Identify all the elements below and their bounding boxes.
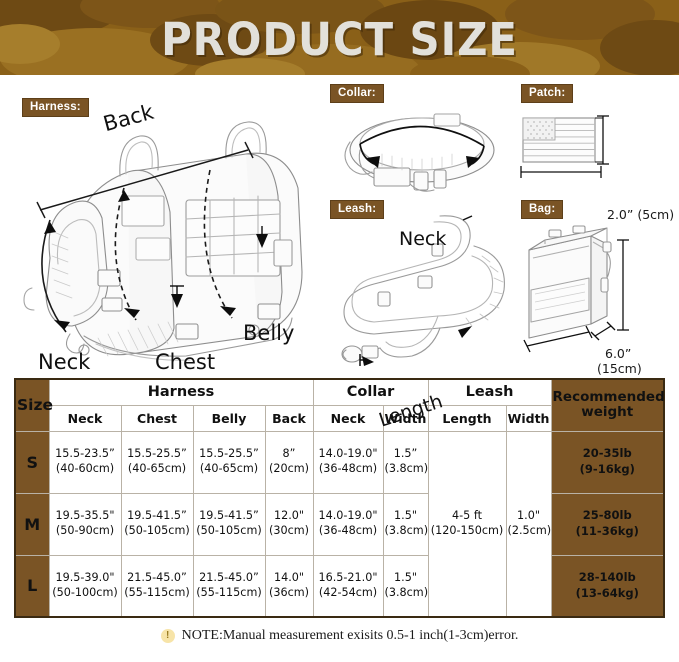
table-row: M 19.5-35.5" (50-90cm) 19.5-41.5” (50-10… [15, 493, 664, 555]
value-in: 19.5-41.5” [195, 509, 264, 524]
value-in: 1.5" [385, 509, 427, 524]
cell-leash-length: 4-5 ft (120-150cm) [428, 431, 506, 617]
cell-m-harness-neck: 19.5-35.5" (50-90cm) [49, 493, 121, 555]
value-cm: (40-65cm) [195, 462, 264, 477]
bag-height-label: 6.0” [605, 346, 631, 361]
table-group-header-row: Size Harness Collar Leash Recommended we… [15, 379, 664, 405]
value-in: 19.5-35.5" [51, 509, 120, 524]
value-cm: (40-65cm) [123, 462, 192, 477]
harness-neck-label: Neck [38, 350, 90, 374]
patch-diagram [515, 104, 675, 184]
header-group-leash: Leash [428, 379, 551, 405]
value-in: 21.5-45.0” [123, 571, 192, 586]
cell-m-harness-belly: 19.5-41.5” (50-105cm) [193, 493, 265, 555]
page-title: PRODUCT SIZE [24, 0, 655, 78]
harness-belly-label: Belly [243, 321, 294, 345]
value-in: 14.0" [267, 571, 312, 586]
harness-chest-label: Chest [155, 350, 215, 374]
value-in: 15.5-25.5” [123, 447, 192, 462]
cell-s-harness-back: 8” (20cm) [265, 431, 313, 493]
value-in: 21.5-45.0” [195, 571, 264, 586]
value-cm: (50-100cm) [51, 586, 120, 601]
value-in: 15.5-25.5” [195, 447, 264, 462]
cell-leash-width: 1.0" (2.5cm) [506, 431, 551, 617]
warning-icon: ! [161, 629, 175, 643]
patch-badge: Patch: [521, 84, 573, 103]
value-in: 1.5” [385, 447, 427, 462]
cell-m-collar-width: 1.5" (3.8cm) [383, 493, 428, 555]
subheader-harness-neck: Neck [49, 405, 121, 431]
collar-badge: Collar: [330, 84, 384, 103]
value-cm: (20cm) [267, 462, 312, 477]
value-in: 1.5" [385, 571, 427, 586]
value-cm: (50-105cm) [195, 524, 264, 539]
cell-s-harness-neck: 15.5-23.5” (40-60cm) [49, 431, 121, 493]
subheader-harness-belly: Belly [193, 405, 265, 431]
value-in: 1.0" [508, 509, 550, 524]
value-in: 16.5-21.0" [315, 571, 382, 586]
value-cm: (3.8cm) [385, 462, 427, 477]
bag-diagram [515, 218, 679, 368]
subheader-harness-chest: Chest [121, 405, 193, 431]
value-cm: (36cm) [267, 586, 312, 601]
table-row: S 15.5-23.5” (40-60cm) 15.5-25.5” (40-65… [15, 431, 664, 493]
row-size-l: L [15, 555, 49, 617]
page-header: PRODUCT SIZE [0, 0, 679, 78]
cell-s-collar-width: 1.5” (3.8cm) [383, 431, 428, 493]
value-cm: (3.8cm) [385, 586, 427, 601]
value-kg: (13-64kg) [553, 586, 663, 602]
value-cm: (50-105cm) [123, 524, 192, 539]
value-lb: 20-35lb [553, 446, 663, 462]
cell-m-collar-neck: 14.0-19.0" (36-48cm) [313, 493, 383, 555]
value-lb: 28-140lb [553, 570, 663, 586]
value-in: 15.5-23.5” [51, 447, 120, 462]
cell-l-harness-neck: 19.5-39.0" (50-100cm) [49, 555, 121, 617]
value-cm: (3.8cm) [385, 524, 427, 539]
note-bar: ! NOTE:Manual measurement exisits 0.5-1 … [0, 628, 679, 644]
cell-s-harness-belly: 15.5-25.5” (40-65cm) [193, 431, 265, 493]
cell-l-harness-chest: 21.5-45.0” (55-115cm) [121, 555, 193, 617]
value-in: 14.0-19.0" [315, 509, 382, 524]
subheader-leash-width: Width [506, 405, 551, 431]
bag-badge: Bag: [521, 200, 563, 219]
value-cm: (50-90cm) [51, 524, 120, 539]
note-text: NOTE:Manual measurement exisits 0.5-1 in… [182, 628, 519, 644]
cell-l-weight: 28-140lb (13-64kg) [551, 555, 664, 617]
value-in: 4-5 ft [430, 509, 505, 524]
header-group-harness: Harness [49, 379, 313, 405]
value-kg: (11-36kg) [553, 524, 663, 540]
value-cm: (2.5cm) [508, 524, 550, 539]
subheader-collar-neck: Neck [313, 405, 383, 431]
cell-l-harness-back: 14.0" (36cm) [265, 555, 313, 617]
cell-s-weight: 20-35lb (9-16kg) [551, 431, 664, 493]
value-in: 8” [267, 447, 312, 462]
row-size-m: M [15, 493, 49, 555]
cell-l-harness-belly: 21.5-45.0” (55-115cm) [193, 555, 265, 617]
size-table: Size Harness Collar Leash Recommended we… [14, 378, 665, 618]
cell-m-harness-back: 12.0" (30cm) [265, 493, 313, 555]
cell-l-collar-neck: 16.5-21.0" (42-54cm) [313, 555, 383, 617]
leash-badge: Leash: [330, 200, 384, 219]
collar-diagram [322, 92, 512, 197]
diagram-area: Harness: [0, 78, 679, 370]
value-lb: 25-80lb [553, 508, 663, 524]
value-cm: (55-115cm) [195, 586, 264, 601]
harness-badge: Harness: [22, 98, 89, 117]
cell-m-weight: 25-80lb (11-36kg) [551, 493, 664, 555]
value-kg: (9-16kg) [553, 462, 663, 478]
value-cm: (36-48cm) [315, 524, 382, 539]
header-recommended-weight: Recommended weight [551, 379, 664, 431]
cell-s-collar-neck: 14.0-19.0" (36-48cm) [313, 431, 383, 493]
value-in: 12.0" [267, 509, 312, 524]
cell-m-harness-chest: 19.5-41.5” (50-105cm) [121, 493, 193, 555]
header-size: Size [15, 379, 49, 431]
cell-s-harness-chest: 15.5-25.5” (40-65cm) [121, 431, 193, 493]
cell-l-collar-width: 1.5" (3.8cm) [383, 555, 428, 617]
table-row: L 19.5-39.0" (50-100cm) 21.5-45.0” (55-1… [15, 555, 664, 617]
value-in: 19.5-39.0" [51, 571, 120, 586]
subheader-harness-back: Back [265, 405, 313, 431]
value-cm: (42-54cm) [315, 586, 382, 601]
value-cm: (55-115cm) [123, 586, 192, 601]
value-cm: (120-150cm) [430, 524, 505, 539]
value-cm: (30cm) [267, 524, 312, 539]
value-cm: (40-60cm) [51, 462, 120, 477]
value-in: 19.5-41.5” [123, 509, 192, 524]
bag-height-cm-label: (15cm) [597, 361, 642, 376]
value-in: 14.0-19.0" [315, 447, 382, 462]
value-cm: (36-48cm) [315, 462, 382, 477]
collar-neck-label: Neck [399, 228, 446, 250]
row-size-s: S [15, 431, 49, 493]
